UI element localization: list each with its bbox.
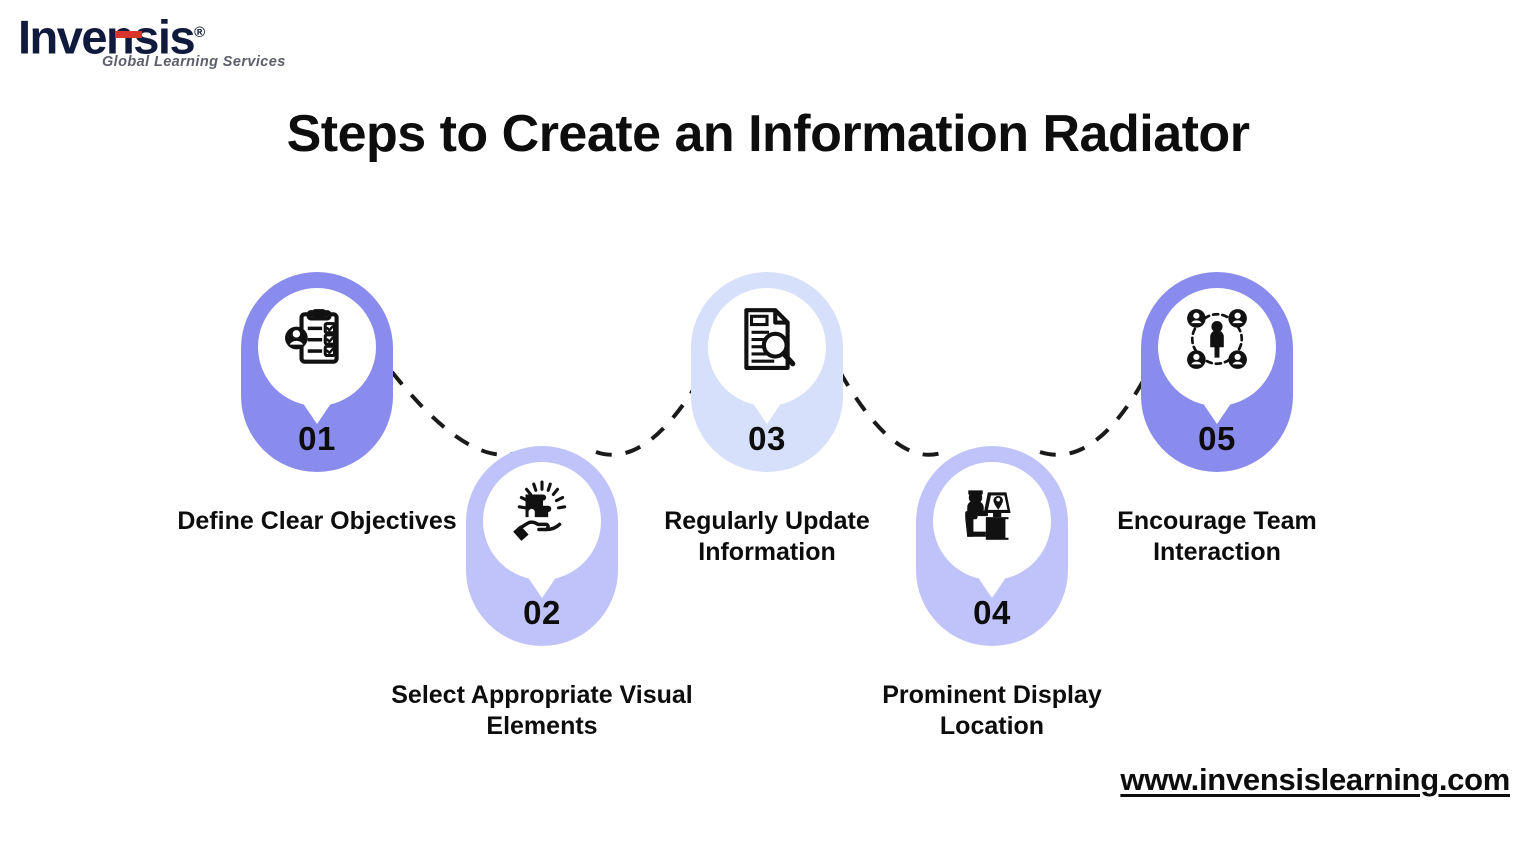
step-05[interactable]: 05 Encourage Team Interaction (1141, 272, 1293, 472)
step-03-pin-tip (729, 368, 805, 424)
step-01-pin-tip (279, 368, 355, 424)
step-03-label: Regularly Update Information (602, 506, 932, 568)
step-02-label: Select Appropriate Visual Elements (377, 680, 707, 742)
step-05-capsule: 05 (1141, 272, 1293, 472)
step-04-number: 04 (916, 594, 1068, 632)
step-03-capsule: 03 (691, 272, 843, 472)
step-05-pin-tip (1179, 368, 1255, 424)
step-01[interactable]: 01 Define Clear Objectives (241, 272, 393, 472)
step-04-pin-tip (954, 542, 1030, 598)
step-02[interactable]: 02 Select Appropriate Visual Elements (466, 446, 618, 646)
step-01-number: 01 (241, 420, 393, 458)
step-01-capsule: 01 (241, 272, 393, 472)
website-url[interactable]: www.invensislearning.com (1120, 762, 1510, 798)
steps-diagram: 01 Define Clear Objectives (0, 0, 1536, 864)
step-04[interactable]: 04 Prominent Display Location (916, 446, 1068, 646)
step-02-number: 02 (466, 594, 618, 632)
step-04-capsule: 04 (916, 446, 1068, 646)
step-01-label: Define Clear Objectives (152, 506, 482, 537)
step-05-number: 05 (1141, 420, 1293, 458)
person-desk-monitor-pin-icon (959, 480, 1025, 546)
step-02-pin-tip (504, 542, 580, 598)
step-04-label: Prominent Display Location (827, 680, 1157, 742)
step-02-capsule: 02 (466, 446, 618, 646)
step-05-label: Encourage Team Interaction (1052, 506, 1382, 568)
clipboard-checklist-person-icon (284, 306, 350, 372)
document-magnifier-icon (734, 306, 800, 372)
team-network-people-icon (1184, 306, 1250, 372)
step-03[interactable]: 03 Regularly Update Information (691, 272, 843, 472)
step-03-number: 03 (691, 420, 843, 458)
hand-puzzle-piece-icon (509, 480, 575, 546)
